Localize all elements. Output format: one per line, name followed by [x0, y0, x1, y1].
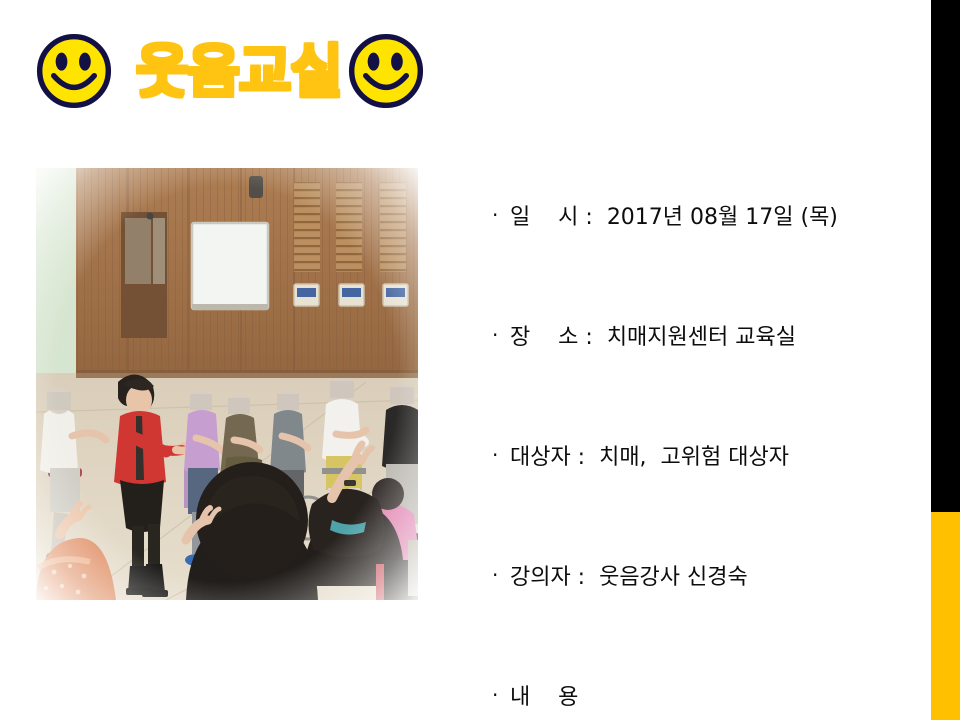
- detail-row-datetime: ·일 시 : 2017년 08월 17일 (목): [450, 170, 920, 263]
- detail-row-participants: ·대상자 : 치매, 고위험 대상자: [450, 410, 920, 503]
- bullet-icon: ·: [492, 560, 510, 590]
- page-title: 웃음교실: [136, 38, 341, 106]
- smiley-face-icon: [347, 32, 425, 110]
- detail-instructor-text: 강의자 : 웃음강사 신경숙: [510, 565, 748, 590]
- details-list: ·일 시 : 2017년 08월 17일 (목) ·장 소 : 치매지원센터 교…: [450, 170, 920, 720]
- slide-canvas: 웃음교실: [0, 0, 960, 720]
- detail-row-instructor: ·강의자 : 웃음강사 신경숙: [450, 530, 920, 623]
- right-edge-dark-bar: [931, 0, 960, 512]
- smiley-face-icon: [35, 32, 113, 110]
- detail-content-label: 내 용: [510, 685, 578, 710]
- activity-photo-image: [36, 168, 418, 600]
- bullet-icon: ·: [492, 320, 510, 350]
- title-row: 웃음교실: [0, 18, 470, 128]
- bullet-icon: ·: [492, 680, 510, 710]
- detail-row-content: ·내 용: [450, 650, 920, 720]
- detail-datetime-text: 일 시 : 2017년 08월 17일 (목): [510, 205, 838, 230]
- bullet-icon: ·: [492, 440, 510, 470]
- right-edge-accent-bar: [931, 512, 960, 720]
- bullet-icon: ·: [492, 200, 510, 230]
- detail-row-location: ·장 소 : 치매지원센터 교육실: [450, 290, 920, 383]
- detail-location-text: 장 소 : 치매지원센터 교육실: [510, 325, 796, 350]
- detail-participants-text: 대상자 : 치매, 고위험 대상자: [510, 445, 789, 470]
- activity-photo: [36, 168, 418, 600]
